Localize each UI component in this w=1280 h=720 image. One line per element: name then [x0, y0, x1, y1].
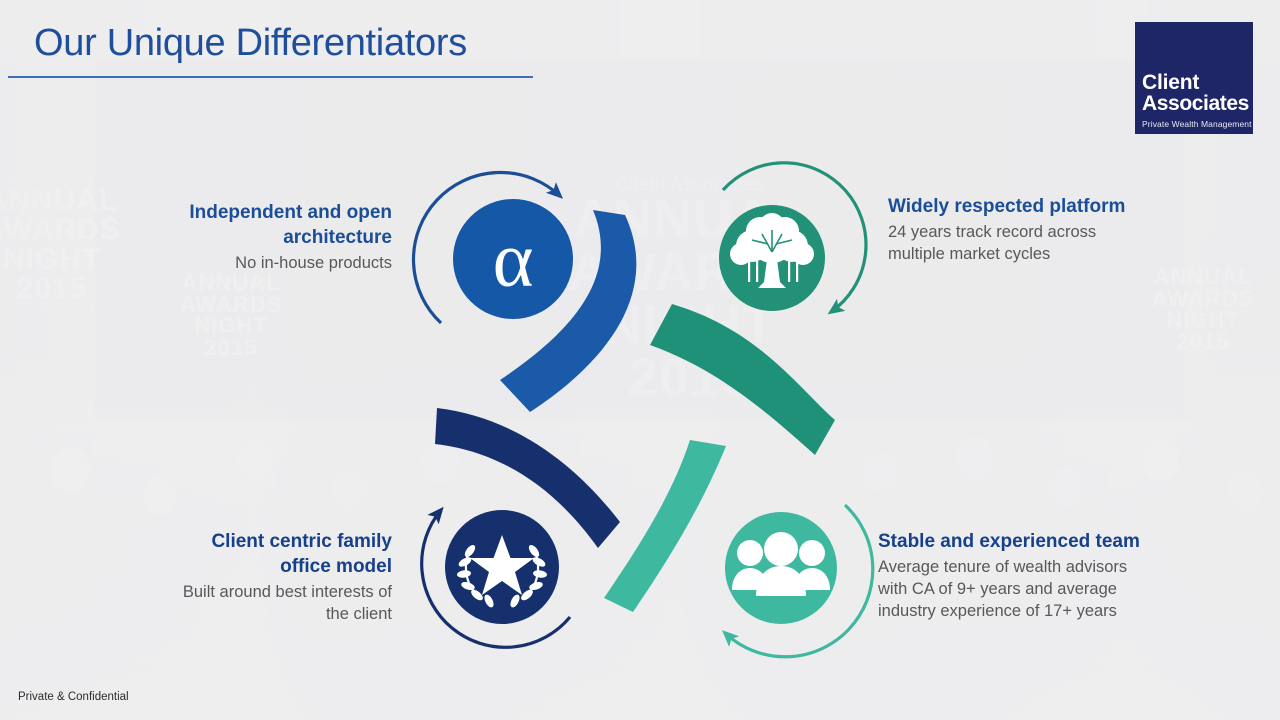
icon-circle-tree[interactable]	[719, 205, 825, 311]
slide-canvas: Client Associates ANNUALAWARDSNIGHT2015 …	[0, 0, 1280, 720]
pillar-description: Average tenure of wealth advisors with C…	[878, 557, 1160, 622]
pillar-client-centric-family-office-model: Client centric family office model Built…	[178, 529, 392, 626]
people-group-icon	[732, 532, 830, 596]
pillar-heading: Client centric family office model	[178, 529, 392, 579]
petal-teal	[650, 304, 835, 455]
icon-circle-people[interactable]	[725, 512, 837, 624]
pillar-independent-open-architecture: Independent and open architecture No in-…	[180, 200, 392, 275]
icon-circle-alpha[interactable]: α	[453, 199, 573, 319]
pillar-description: Built around best interests of the clien…	[178, 582, 392, 626]
alpha-icon: α	[493, 216, 534, 303]
pillar-heading: Widely respected platform	[888, 194, 1140, 219]
pillar-widely-respected-platform: Widely respected platform 24 years track…	[888, 194, 1140, 266]
icon-circle-star-laurel[interactable]	[445, 510, 559, 624]
pillar-stable-experienced-team: Stable and experienced team Average tenu…	[878, 529, 1160, 622]
confidentiality-footer: Private & Confidential	[18, 691, 129, 703]
petal-mint	[604, 440, 726, 612]
pillar-description: 24 years track record across multiple ma…	[888, 222, 1140, 266]
pillar-heading: Independent and open architecture	[180, 200, 392, 250]
pillar-heading: Stable and experienced team	[878, 529, 1160, 554]
pillar-description: No in-house products	[180, 253, 392, 275]
